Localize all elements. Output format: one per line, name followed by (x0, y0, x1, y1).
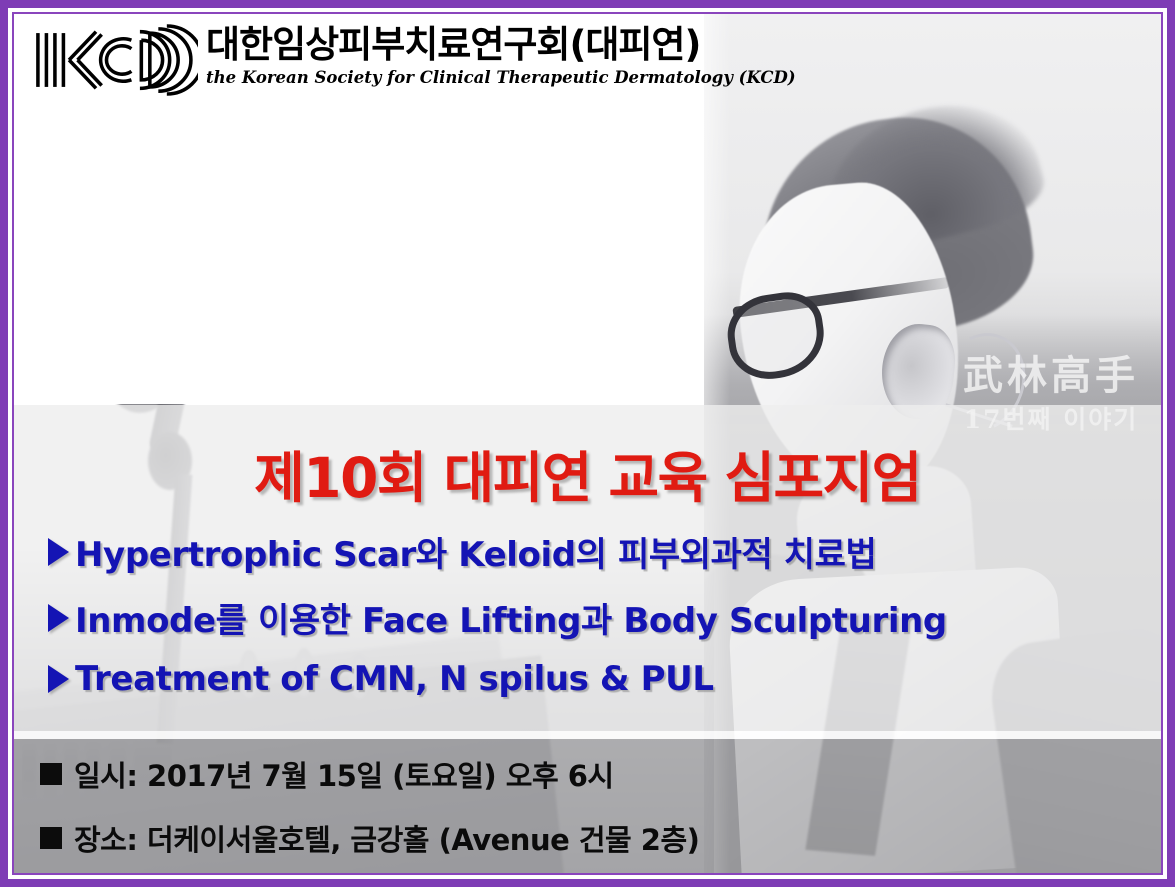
list-item: 장소: 더케이서울호텔, 금강홀 (Avenue 건물 2층) (40, 817, 699, 859)
list-item: Hypertrophic Scar와 Keloid의 피부외과적 치료법 (48, 527, 1151, 576)
triangle-right-icon (48, 665, 69, 693)
list-item: Treatment of CMN, N spilus & PUL (48, 659, 1151, 699)
square-bullet-icon (40, 827, 62, 849)
list-item: 일시: 2017년 7월 15일 (토요일) 오후 6시 (40, 753, 699, 795)
triangle-right-icon (48, 604, 69, 632)
list-item: Inmode를 이용한 Face Lifting과 Body Sculpturi… (48, 593, 1151, 642)
session-label: Hypertrophic Scar와 Keloid의 피부외과적 치료법 (75, 527, 876, 576)
page-title: 제10회 대피연 교육 심포지엄 (14, 433, 1161, 513)
org-name-en: the Korean Society for Clinical Therapeu… (206, 68, 796, 87)
kcd-logo-icon (28, 24, 198, 96)
event-datetime: 일시: 2017년 7월 15일 (토요일) 오후 6시 (74, 753, 614, 795)
square-bullet-icon (40, 763, 62, 785)
session-label: Treatment of CMN, N spilus & PUL (75, 659, 714, 699)
org-name-block: 대한임상피부치료연구회(대피연) the Korean Society for … (206, 26, 796, 87)
session-label: Inmode를 이용한 Face Lifting과 Body Sculpturi… (75, 593, 947, 642)
poster-header: 대한임상피부치료연구회(대피연) the Korean Society for … (14, 14, 714, 106)
symposium-poster: 대한임상피부치료연구회(대피연) the Korean Society for … (0, 0, 1175, 887)
event-venue: 장소: 더케이서울호텔, 금강홀 (Avenue 건물 2층) (74, 817, 699, 859)
poster-content: 제10회 대피연 교육 심포지엄 Hypertrophic Scar와 Kelo… (14, 405, 1161, 873)
session-list: Hypertrophic Scar와 Keloid의 피부외과적 치료법 Inm… (48, 527, 1151, 716)
triangle-right-icon (48, 538, 69, 566)
org-name-kr: 대한임상피부치료연구회(대피연) (206, 26, 796, 65)
event-details: 일시: 2017년 7월 15일 (토요일) 오후 6시 장소: 더케이서울호텔… (40, 753, 699, 873)
poster-canvas: 대한임상피부치료연구회(대피연) the Korean Society for … (14, 14, 1161, 873)
